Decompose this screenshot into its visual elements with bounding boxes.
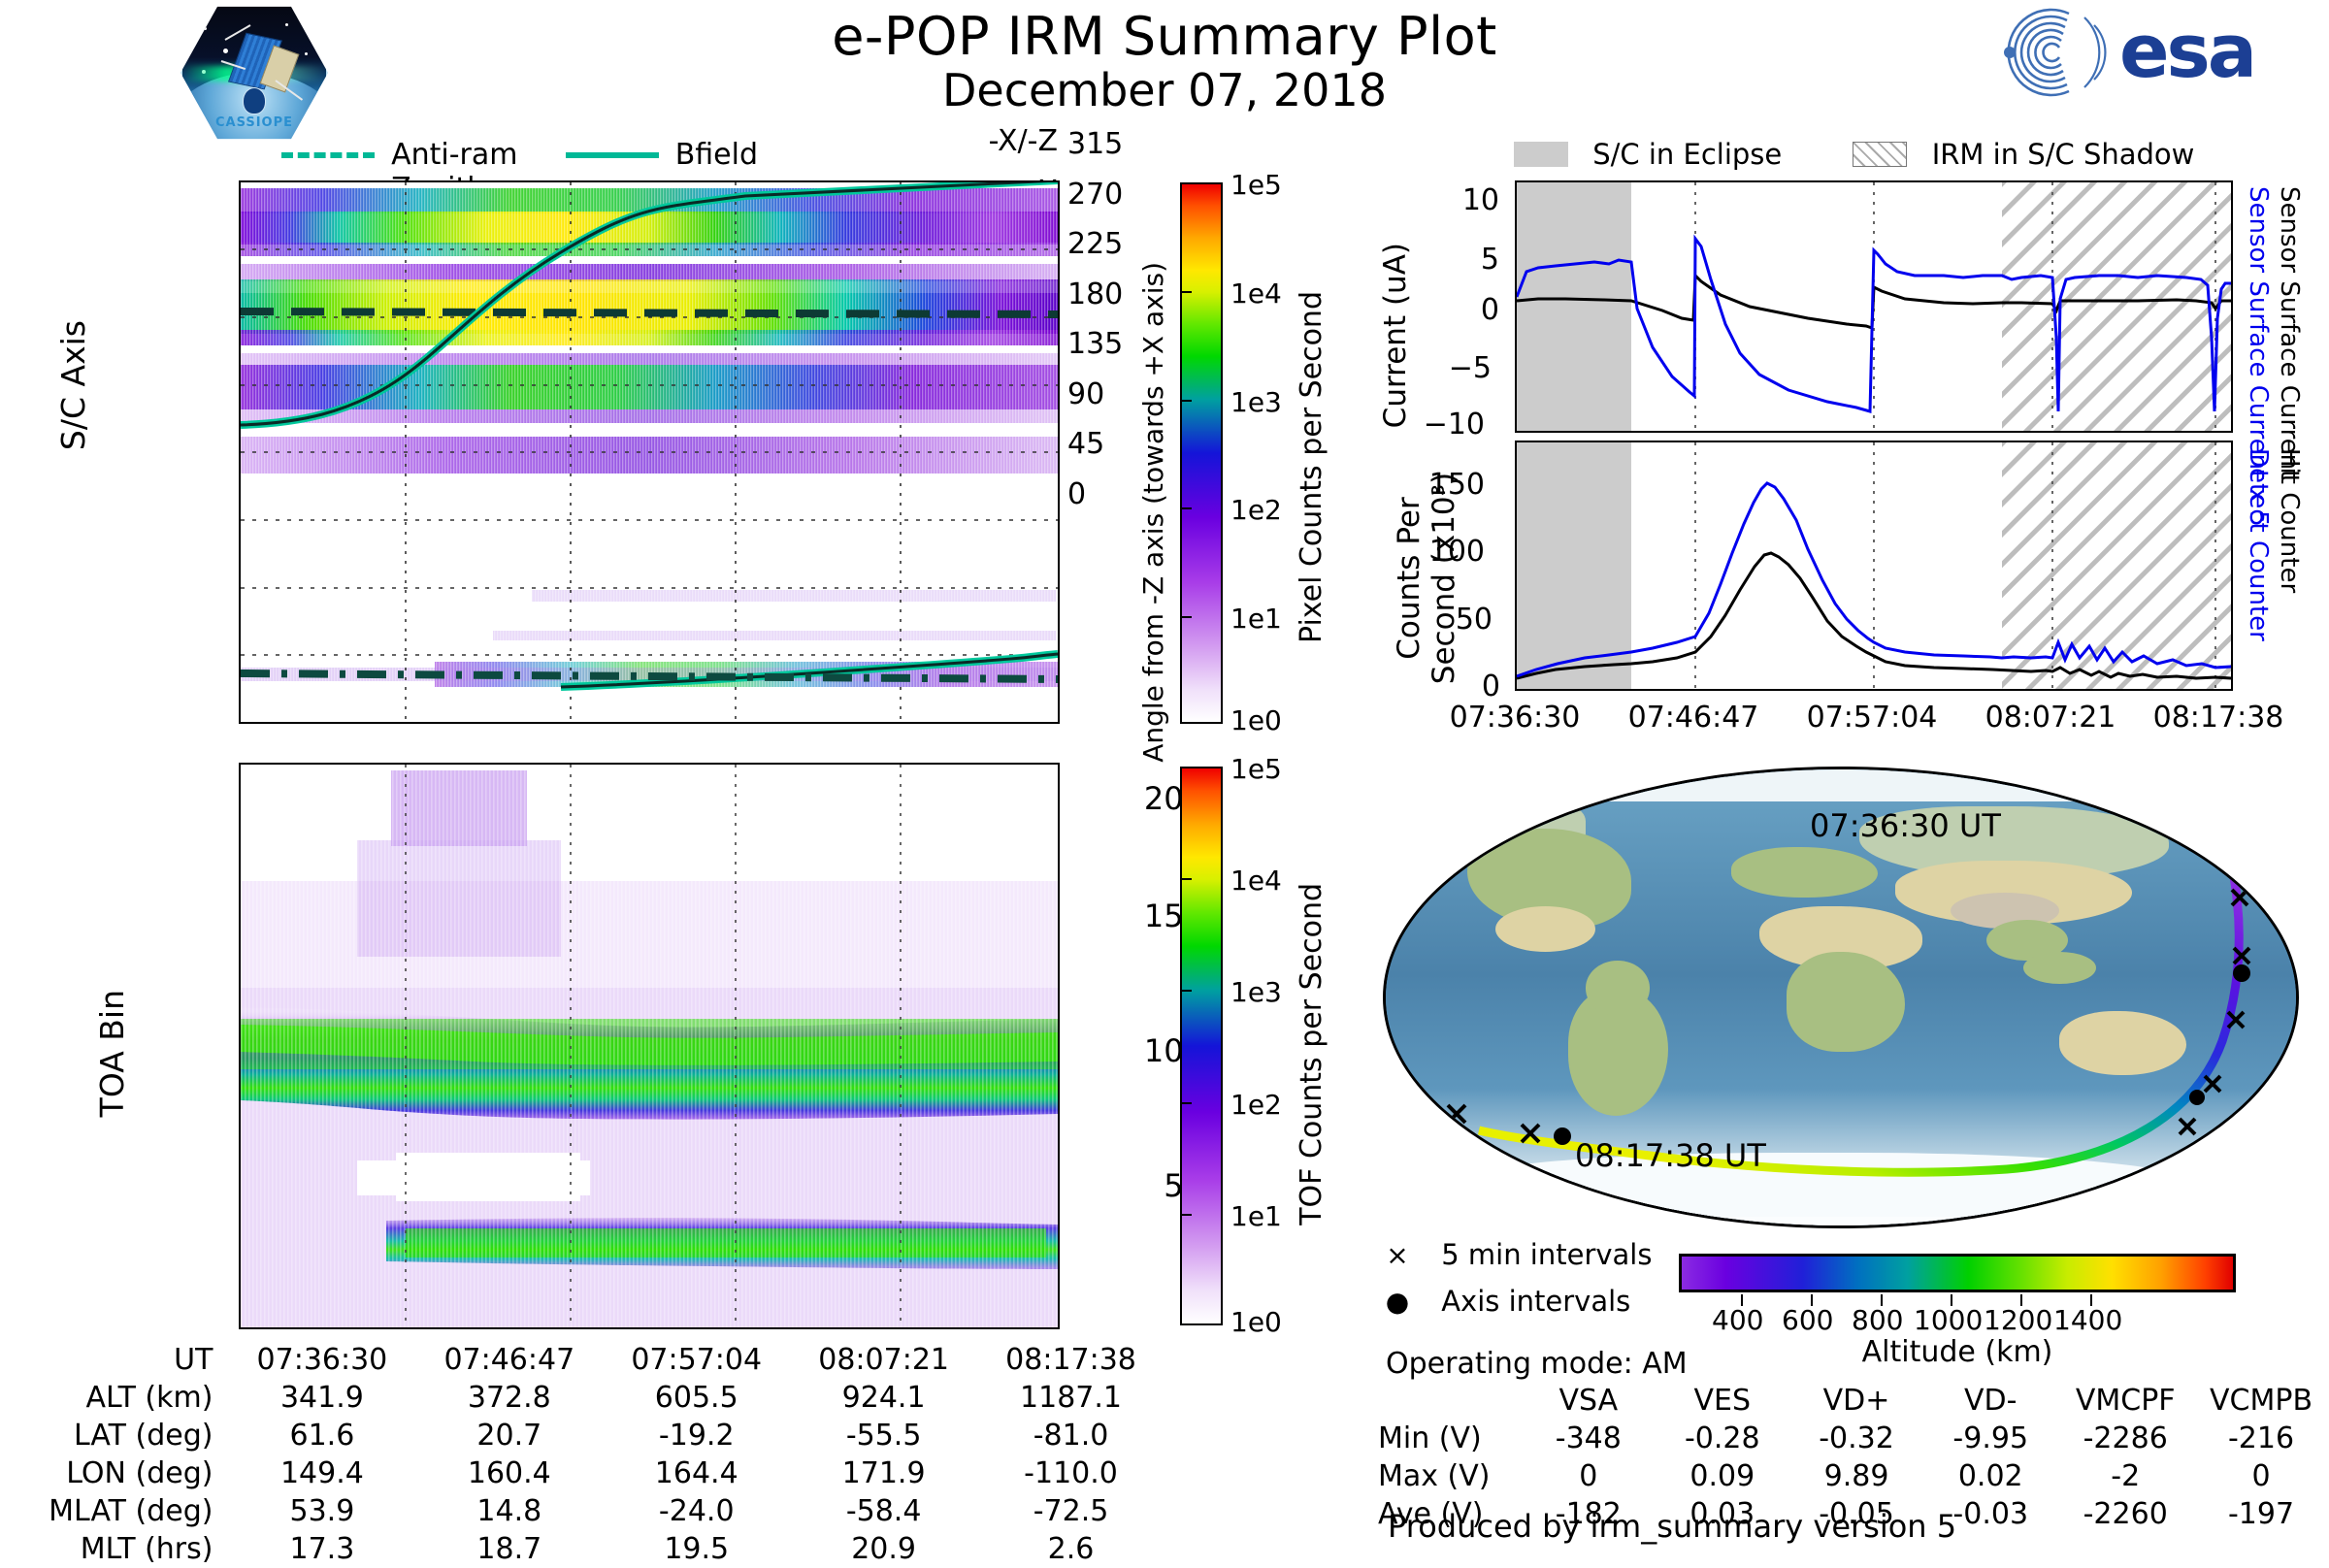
spectrogram-image <box>241 182 1058 722</box>
max-vcmpb: 0 <box>2193 1457 2329 1495</box>
axis-interval-dot <box>2189 1090 2205 1105</box>
tof-colorbar-label: TOF Counts per Second <box>1295 883 1329 1225</box>
table-row: MLAT (deg) 53.9 14.8 -24.0 -58.4 -72.5 <box>39 1492 1164 1530</box>
interval-cross <box>2180 1119 2195 1134</box>
pixel-colorbar-tick-1e1: 1e1 <box>1230 603 1282 635</box>
altitude-colorbar-caption: Altitude (km) <box>1679 1335 2236 1369</box>
min-ves: -0.28 <box>1656 1420 1789 1457</box>
lon-value-4: -110.0 <box>977 1454 1164 1492</box>
spectrogram-angle-tick-225: 225 <box>1067 227 1123 261</box>
altitude-tick-600: 600 <box>1782 1304 1833 1336</box>
row-header-mlt: MLT (hrs) <box>39 1530 228 1568</box>
ut-value-4: 08:17:38 <box>977 1341 1164 1379</box>
map-start-time-label: 07:36:30 UT <box>1810 807 2001 844</box>
legend-item-anti-ram: Anti-ram <box>281 138 518 172</box>
esa-logo: esa <box>1976 6 2315 99</box>
eclipse-shading <box>1517 442 1631 689</box>
altitude-tick-1000: 1000 <box>1914 1304 1983 1336</box>
spectrogram-angle-axis-label: Angle from -Z axis (towards +X axis) <box>1137 262 1169 763</box>
mlt-value-2: 19.5 <box>603 1530 790 1568</box>
axis-interval-dot <box>2233 964 2250 982</box>
max-vmcpf: -2 <box>2057 1457 2193 1495</box>
spectrogram-angle-tick-45: 45 <box>1067 427 1104 461</box>
tof-colorbar-tick-1e4: 1e4 <box>1230 865 1282 897</box>
max-vdp: 9.89 <box>1789 1457 1923 1495</box>
lon-value-1: 160.4 <box>415 1454 603 1492</box>
shadow-hatching <box>2002 442 2231 689</box>
max-ves: 0.09 <box>1656 1457 1789 1495</box>
row-header-mlat: MLAT (deg) <box>39 1492 228 1530</box>
spectrogram-angle-tick-0: 0 <box>1067 477 1086 511</box>
tof-colorbar-tick-1e3: 1e3 <box>1230 976 1282 1008</box>
pixel-counts-colorbar <box>1180 182 1223 724</box>
map-end-time-label: 08:17:38 UT <box>1575 1137 1766 1174</box>
ephemeris-table: UT 07:36:30 07:46:47 07:57:04 08:07:21 0… <box>39 1341 1164 1568</box>
cassiope-logo-label: CASSIOPE <box>182 115 326 130</box>
mlat-value-2: -24.0 <box>603 1492 790 1530</box>
counts-ytick-150: 150 <box>1397 468 1485 502</box>
axis-interval-dot <box>2219 817 2237 834</box>
current-ytick-5: 5 <box>1412 243 1499 277</box>
pixel-colorbar-tick-1e5: 1e5 <box>1230 169 1282 201</box>
shadow-legend: S/C in Eclipse IRM in S/C Shadow <box>1514 136 2290 175</box>
voltage-col-vsa: VSA <box>1522 1382 1656 1420</box>
legend-item-eclipse: S/C in Eclipse <box>1514 136 1782 171</box>
axis-interval-dot <box>1554 1127 1571 1145</box>
counts-plot[interactable] <box>1515 441 2233 691</box>
legend-label-eclipse: S/C in Eclipse <box>1592 138 1782 171</box>
tof-colorbar-tick-1e2: 1e2 <box>1230 1089 1282 1121</box>
min-vdm: -9.95 <box>1923 1420 2057 1457</box>
lon-value-3: 171.9 <box>790 1454 977 1492</box>
ut-value-0: 07:36:30 <box>228 1341 415 1379</box>
pixel-colorbar-tick-1e0: 1e0 <box>1230 704 1282 736</box>
lat-value-0: 61.6 <box>228 1417 415 1454</box>
legend-label-axis: Axis intervals <box>1441 1285 1630 1318</box>
voltage-col-vmcpf: VMCPF <box>2057 1382 2193 1420</box>
shadow-swatch-icon <box>1853 142 1907 167</box>
lon-value-2: 164.4 <box>603 1454 790 1492</box>
altitude-tick-800: 800 <box>1852 1304 1903 1336</box>
cassiope-logo: CASSIOPE <box>180 4 328 142</box>
voltage-row-max: Max (V) <box>1378 1457 1522 1495</box>
counts-ytick-50: 50 <box>1405 603 1493 637</box>
voltage-col-vcmpb: VCMPB <box>2193 1382 2329 1420</box>
ut-value-3: 08:07:21 <box>790 1341 977 1379</box>
legend-label-5min: 5 min intervals <box>1441 1238 1652 1271</box>
spectrogram-angle-tick-180: 180 <box>1067 278 1123 311</box>
row-header-alt: ALT (km) <box>39 1379 228 1417</box>
colorbar-tick-mark <box>1180 400 1192 402</box>
cross-marker-icon: × <box>1378 1239 1417 1271</box>
table-row: UT 07:36:30 07:46:47 07:57:04 08:07:21 0… <box>39 1341 1164 1379</box>
bfield-line-icon <box>566 152 659 158</box>
row-header-lat: LAT (deg) <box>39 1417 228 1454</box>
pixel-colorbar-label: Pixel Counts per Second <box>1295 291 1329 643</box>
spectrogram-y-axis-label: S/C Axis <box>54 320 92 450</box>
altitude-tick-1400: 1400 <box>2053 1304 2122 1336</box>
legend-item-shadow: IRM in S/C Shadow <box>1853 136 2194 171</box>
alt-value-4: 1187.1 <box>977 1379 1164 1417</box>
voltage-col-ves: VES <box>1656 1382 1789 1420</box>
legend-label-shadow: IRM in S/C Shadow <box>1932 138 2195 171</box>
colorbar-tick-mark <box>1180 507 1192 509</box>
alt-value-0: 341.9 <box>228 1379 415 1417</box>
voltage-col-vdm: VD- <box>1923 1382 2057 1420</box>
interval-cross <box>2205 1076 2220 1092</box>
table-header-row: VSA VES VD+ VD- VMCPF VCMPB <box>1378 1382 2329 1420</box>
pixel-colorbar-tick-1e3: 1e3 <box>1230 386 1282 418</box>
table-row: MLT (hrs) 17.3 18.7 19.5 20.9 2.6 <box>39 1530 1164 1568</box>
tof-counts-colorbar <box>1180 767 1223 1325</box>
lat-value-4: -81.0 <box>977 1417 1164 1454</box>
spectrogram-angle-tick-90: 90 <box>1067 377 1104 411</box>
current-ytick-10: 10 <box>1412 183 1499 217</box>
colorbar-tick-mark <box>1180 1102 1192 1104</box>
voltage-row-min: Min (V) <box>1378 1420 1522 1457</box>
mlat-value-1: 14.8 <box>415 1492 603 1530</box>
esa-logo-wordmark: esa <box>2119 8 2254 95</box>
lat-value-3: -55.5 <box>790 1417 977 1454</box>
colorbar-tick-mark <box>1180 878 1192 880</box>
eclipse-swatch-icon <box>1514 142 1568 167</box>
ave-vcmpb: -197 <box>2193 1495 2329 1533</box>
mlt-value-3: 20.9 <box>790 1530 977 1568</box>
operating-mode-label: Operating mode: AM <box>1386 1347 1688 1381</box>
ut-value-2: 07:57:04 <box>603 1341 790 1379</box>
colorbar-tick-mark <box>1180 616 1192 618</box>
table-row: LAT (deg) 61.6 20.7 -19.2 -55.5 -81.0 <box>39 1417 1164 1454</box>
counts-right-label-black: Hit Counter <box>2275 448 2304 593</box>
spectrogram-legend: Anti-ram Bfield Zenith <box>281 138 1000 173</box>
tof-colorbar-tick-1e0: 1e0 <box>1230 1306 1282 1338</box>
table-row: ALT (km) 341.9 372.8 605.5 924.1 1187.1 <box>39 1379 1164 1417</box>
pixel-spectrogram-plot[interactable] <box>239 180 1060 724</box>
tof-colorbar-tick-1e1: 1e1 <box>1230 1200 1282 1232</box>
altitude-colorbar <box>1679 1254 2236 1292</box>
mlat-value-4: -72.5 <box>977 1492 1164 1530</box>
row-header-ut: UT <box>39 1341 228 1379</box>
mlt-value-4: 2.6 <box>977 1530 1164 1568</box>
max-vsa: 0 <box>1522 1457 1656 1495</box>
voltage-col-vdp: VD+ <box>1789 1382 1923 1420</box>
min-vsa: -348 <box>1522 1420 1656 1457</box>
pixel-colorbar-tick-1e2: 1e2 <box>1230 494 1282 526</box>
colorbar-tick-mark <box>1180 990 1192 992</box>
current-y-axis-label: Current (uA) <box>1378 243 1413 428</box>
voltage-corner-cell <box>1378 1382 1522 1420</box>
lon-value-0: 149.4 <box>228 1454 415 1492</box>
spectrogram-angle-tick-270: 270 <box>1067 178 1123 212</box>
legend-label-anti-ram: Anti-ram <box>391 138 517 172</box>
table-row: Min (V) -348 -0.28 -0.32 -9.95 -2286 -21… <box>1378 1420 2329 1457</box>
altitude-tick-400: 400 <box>1712 1304 1763 1336</box>
mlt-value-1: 18.7 <box>415 1530 603 1568</box>
mlat-value-0: 53.9 <box>228 1492 415 1530</box>
tof-colorbar-tick-1e5: 1e5 <box>1230 753 1282 785</box>
current-plot[interactable] <box>1515 180 2233 433</box>
mlat-value-3: -58.4 <box>790 1492 977 1530</box>
table-row: LON (deg) 149.4 160.4 164.4 171.9 -110.0 <box>39 1454 1164 1492</box>
shadow-hatching <box>2002 182 2231 431</box>
toa-image <box>241 765 1058 1327</box>
current-ytick-0: 0 <box>1412 293 1499 327</box>
orbit-map[interactable]: 07:36:30 UT 08:17:38 UT <box>1383 767 2299 1228</box>
current-right-label-black: Sensor Surface Current <box>2275 186 2304 479</box>
ut-value-1: 07:46:47 <box>415 1341 603 1379</box>
current-ytick-neg5: −5 <box>1404 351 1492 385</box>
min-vmcpf: -2286 <box>2057 1420 2193 1457</box>
legend-item-bfield: Bfield <box>566 138 758 172</box>
pixel-colorbar-tick-1e4: 1e4 <box>1230 278 1282 310</box>
mlt-value-0: 17.3 <box>228 1530 415 1568</box>
dot-marker-icon: ● <box>1378 1286 1417 1318</box>
counts-right-label-blue: Detect Counter <box>2244 448 2273 641</box>
produced-by-footer: Produced by irm_summary version 5 <box>1388 1508 1956 1545</box>
toa-y-axis-label: TOA Bin <box>93 990 131 1117</box>
colorbar-tick-mark <box>1180 291 1192 293</box>
toa-spectrogram-plot[interactable] <box>239 763 1060 1329</box>
ave-vmcpf: -2260 <box>2057 1495 2193 1533</box>
min-vcmpb: -216 <box>2193 1420 2329 1457</box>
eclipse-shading <box>1517 182 1631 431</box>
anti-ram-line-icon <box>281 152 375 158</box>
esa-swirl-icon <box>1976 6 2121 99</box>
spectrogram-ytick-0: -X/-Z <box>989 124 1058 158</box>
alt-value-2: 605.5 <box>603 1379 790 1417</box>
alt-value-1: 372.8 <box>415 1379 603 1417</box>
colorbar-tick-mark <box>1180 1214 1192 1216</box>
table-row: Max (V) 0 0.09 9.89 0.02 -2 0 <box>1378 1457 2329 1495</box>
spectrogram-angle-tick-315: 315 <box>1067 127 1123 161</box>
min-vdp: -0.32 <box>1789 1420 1923 1457</box>
max-vdm: 0.02 <box>1923 1457 2057 1495</box>
altitude-tick-1200: 1200 <box>1984 1304 2052 1336</box>
counts-ytick-0: 0 <box>1413 670 1500 703</box>
current-trace <box>1517 182 2231 431</box>
spectrogram-angle-tick-135: 135 <box>1067 327 1123 361</box>
time-tick-4: 08:17:38 <box>2112 701 2325 735</box>
interval-cross <box>1448 1105 1465 1123</box>
legend-label-bfield: Bfield <box>675 138 758 172</box>
counts-trace <box>1517 442 2231 689</box>
lat-value-1: 20.7 <box>415 1417 603 1454</box>
row-header-lon: LON (deg) <box>39 1454 228 1492</box>
counts-ytick-100: 100 <box>1397 535 1485 569</box>
alt-value-3: 924.1 <box>790 1379 977 1417</box>
lat-value-2: -19.2 <box>603 1417 790 1454</box>
